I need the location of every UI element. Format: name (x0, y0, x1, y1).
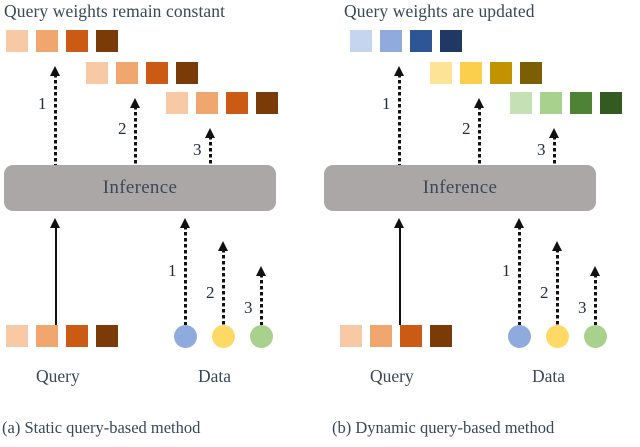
query-arrow-a (50, 218, 61, 325)
data-circle-b-3 (584, 325, 607, 348)
data-arrow-a-2-shaft (222, 249, 225, 325)
query-label-b: Query (370, 366, 414, 387)
output-arrow-b-1-shaft (398, 74, 401, 165)
query-square-a-2 (36, 325, 58, 347)
data-label-b: Data (532, 366, 565, 387)
inference-label-a: Inference (103, 177, 177, 199)
query-square-a-4 (96, 325, 118, 347)
data-arrow-b-3 (590, 266, 601, 325)
query-square-b-2 (370, 325, 392, 347)
query-arrow-a-shaft (55, 226, 57, 325)
query-label-a: Query (36, 366, 80, 387)
data-arrow-b-3-shaft (594, 274, 597, 325)
panel-title-b: Query weights are updated (320, 1, 640, 22)
output-arrow-a-2-shaft (134, 106, 137, 165)
output-square-b-3-1 (510, 92, 532, 114)
data-arrow-a-3-shaft (260, 274, 263, 325)
output-square-a-1-2 (36, 30, 58, 52)
data-arrow-number-b-1: 1 (502, 262, 511, 279)
data-circle-b-2 (546, 325, 569, 348)
data-arrow-a-1 (180, 218, 191, 325)
output-square-b-1-2 (380, 30, 402, 52)
figure-root: Query weights remain constant(a) Static … (0, 0, 640, 447)
output-strip-b-2 (430, 62, 542, 84)
output-arrow-number-b-3: 3 (537, 141, 546, 158)
output-square-a-3-1 (166, 92, 188, 114)
output-arrow-a-2 (130, 98, 141, 165)
query-arrow-b (394, 218, 405, 325)
output-arrow-a-1-shaft (54, 74, 57, 165)
output-arrow-b-3-shaft (553, 136, 556, 165)
output-square-a-1-4 (96, 30, 118, 52)
output-square-a-3-2 (196, 92, 218, 114)
query-square-a-3 (66, 325, 88, 347)
data-arrow-a-2 (218, 241, 229, 325)
data-arrow-a-1-shaft (184, 226, 187, 325)
data-circle-a-1 (174, 325, 197, 348)
output-square-a-1-3 (66, 30, 88, 52)
data-arrow-b-1-shaft (518, 226, 521, 325)
data-label-a: Data (198, 366, 231, 387)
data-arrow-b-1 (514, 218, 525, 325)
output-square-b-2-4 (520, 62, 542, 84)
inference-box-a: Inference (4, 165, 276, 211)
panel-title-a: Query weights remain constant (0, 1, 324, 22)
output-arrow-b-3 (549, 128, 560, 165)
output-square-a-2-3 (146, 62, 168, 84)
query-square-b-1 (340, 325, 362, 347)
query-strip-a (6, 325, 118, 347)
data-arrow-b-2-shaft (556, 249, 559, 325)
data-circle-b-1 (508, 325, 531, 348)
output-arrow-number-b-1: 1 (382, 95, 391, 112)
data-arrow-number-a-2: 2 (206, 284, 215, 301)
output-arrow-b-2-shaft (478, 106, 481, 165)
output-square-a-2-1 (86, 62, 108, 84)
data-circle-a-3 (250, 325, 273, 348)
output-strip-b-3 (510, 92, 622, 114)
output-square-a-2-2 (116, 62, 138, 84)
output-square-a-1-1 (6, 30, 28, 52)
panel-caption-b: (b) Dynamic query-based method (320, 418, 640, 438)
output-arrow-b-1 (394, 66, 405, 165)
output-arrow-number-a-1: 1 (38, 95, 47, 112)
output-square-b-2-2 (460, 62, 482, 84)
output-arrow-a-1 (50, 66, 61, 165)
output-square-b-3-2 (540, 92, 562, 114)
output-strip-a-3 (166, 92, 278, 114)
output-square-b-2-3 (490, 62, 512, 84)
query-strip-b (340, 325, 452, 347)
output-arrow-b-2 (474, 98, 485, 165)
output-strip-b-1 (350, 30, 462, 52)
data-circle-a-2 (212, 325, 235, 348)
panel-caption-a: (a) Static query-based method (0, 418, 322, 438)
output-square-b-3-4 (600, 92, 622, 114)
panel-a: Query weights remain constant(a) Static … (0, 0, 320, 447)
output-square-b-3-3 (570, 92, 592, 114)
data-arrow-b-2 (552, 241, 563, 325)
output-square-b-2-1 (430, 62, 452, 84)
output-strip-a-1 (6, 30, 118, 52)
query-square-b-3 (400, 325, 422, 347)
output-arrow-number-b-2: 2 (462, 120, 471, 137)
data-arrow-number-a-3: 3 (244, 299, 253, 316)
output-square-a-3-3 (226, 92, 248, 114)
output-arrow-number-a-3: 3 (193, 141, 202, 158)
output-arrow-a-3 (205, 128, 216, 165)
output-square-b-1-4 (440, 30, 462, 52)
output-square-a-2-4 (176, 62, 198, 84)
data-arrow-a-3 (256, 266, 267, 325)
output-square-b-1-1 (350, 30, 372, 52)
data-arrow-number-b-3: 3 (578, 299, 587, 316)
output-square-b-1-3 (410, 30, 432, 52)
output-square-a-3-4 (256, 92, 278, 114)
inference-box-b: Inference (324, 165, 596, 211)
output-arrow-a-3-shaft (209, 136, 212, 165)
data-arrow-number-b-2: 2 (540, 284, 549, 301)
data-arrow-number-a-1: 1 (168, 262, 177, 279)
inference-label-b: Inference (423, 177, 497, 199)
output-arrow-number-a-2: 2 (118, 120, 127, 137)
output-strip-a-2 (86, 62, 198, 84)
panel-b: Query weights are updated(b) Dynamic que… (320, 0, 640, 447)
query-square-b-4 (430, 325, 452, 347)
query-square-a-1 (6, 325, 28, 347)
query-arrow-b-shaft (399, 226, 401, 325)
